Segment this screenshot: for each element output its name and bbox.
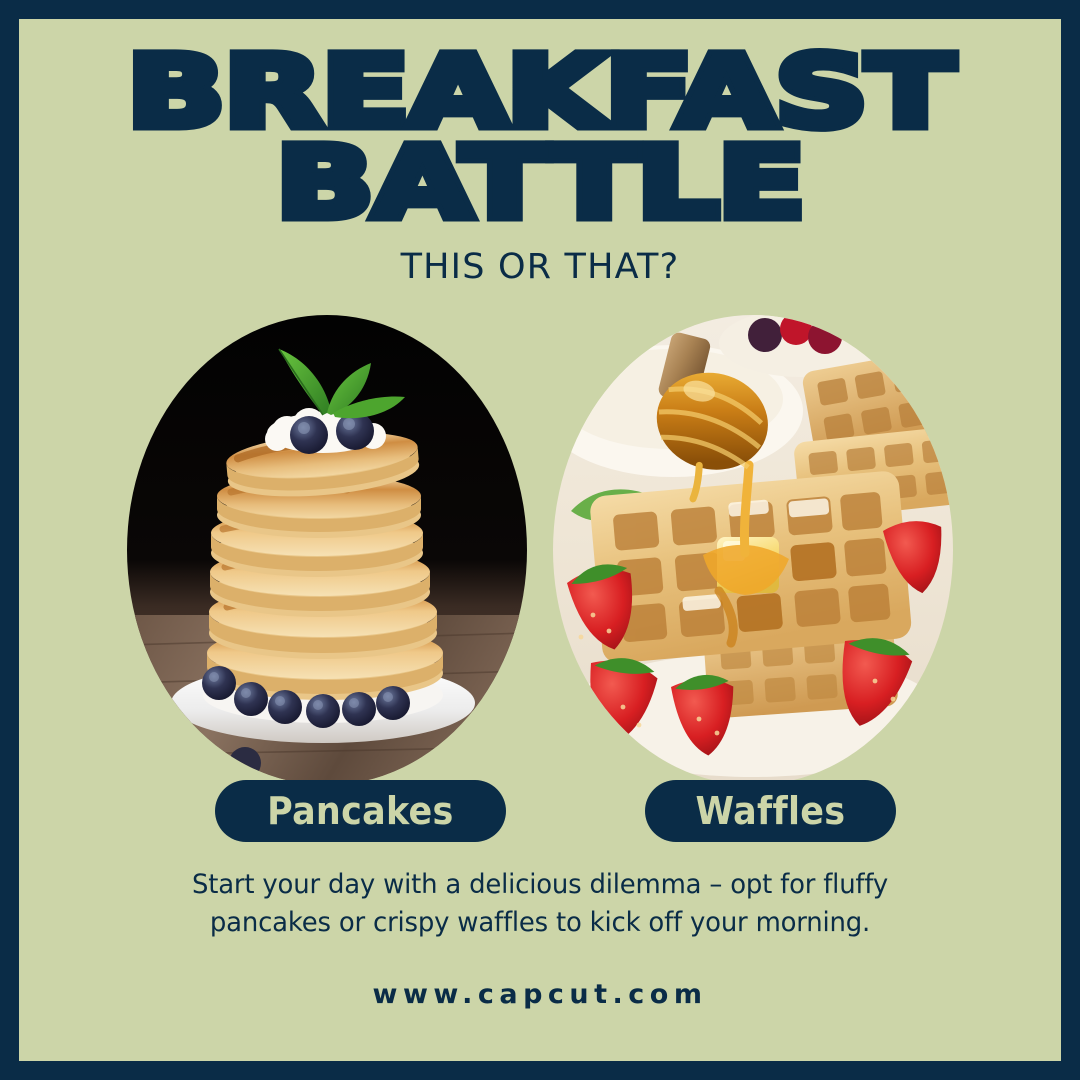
poster-frame: BREAKFAST BATTLE THIS OR THAT? bbox=[0, 0, 1080, 1080]
comparison-row: Pancakes bbox=[19, 315, 1061, 785]
label-pill-pancakes[interactable]: Pancakes bbox=[215, 780, 506, 842]
website-url[interactable]: www.capcut.com bbox=[19, 979, 1061, 1010]
title-line-1: BREAKFAST bbox=[19, 53, 1061, 132]
pancake-stack-photo bbox=[127, 315, 527, 785]
title-line-2: BATTLE bbox=[19, 144, 1061, 223]
page-title: BREAKFAST BATTLE bbox=[19, 53, 1061, 223]
description-text: Start your day with a delicious dilemma … bbox=[145, 866, 934, 942]
waffles-photo bbox=[553, 315, 953, 785]
poster-canvas: BREAKFAST BATTLE THIS OR THAT? bbox=[19, 19, 1061, 1061]
comparison-item-pancakes[interactable]: Pancakes bbox=[127, 315, 527, 785]
pill-label-pancakes: Pancakes bbox=[267, 789, 454, 833]
subtitle: THIS OR THAT? bbox=[19, 247, 1061, 287]
label-pill-waffles[interactable]: Waffles bbox=[645, 780, 896, 842]
pill-label-waffles: Waffles bbox=[696, 789, 846, 833]
comparison-item-waffles[interactable]: Waffles bbox=[553, 315, 953, 785]
